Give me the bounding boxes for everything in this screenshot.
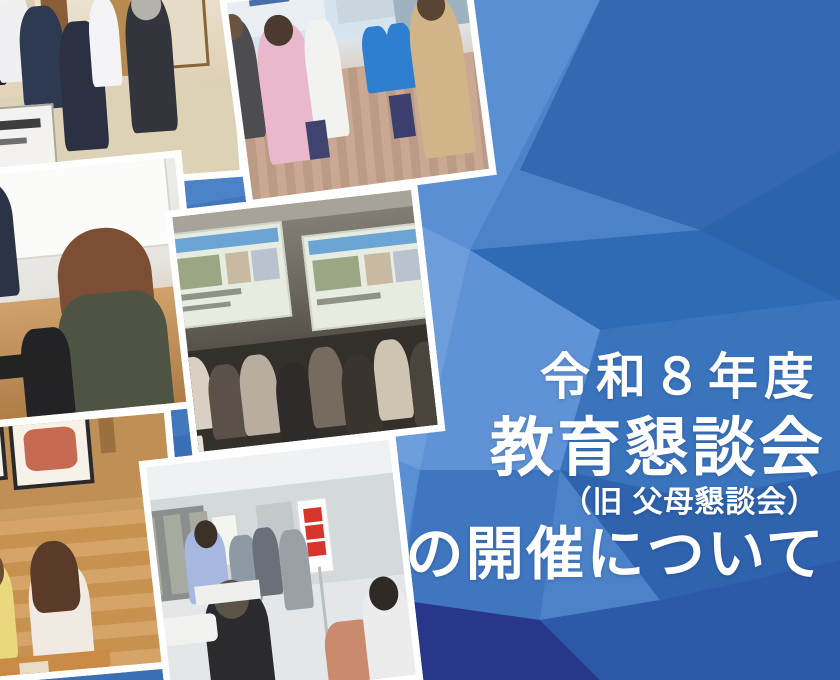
headline-title: 教育懇談会 xyxy=(306,416,826,480)
headline-block: 令和８年度 教育懇談会 （旧 父母懇談会） の開催について xyxy=(306,352,826,584)
headline-subtitle: （旧 父母懇談会） xyxy=(306,488,826,518)
photo-campus-walk xyxy=(219,0,497,208)
headline-about: の開催について xyxy=(306,526,826,584)
education-meeting-banner: 令和８年度 教育懇談会 （旧 父母懇談会） の開催について xyxy=(0,0,840,680)
headline-year: 令和８年度 xyxy=(306,352,826,402)
